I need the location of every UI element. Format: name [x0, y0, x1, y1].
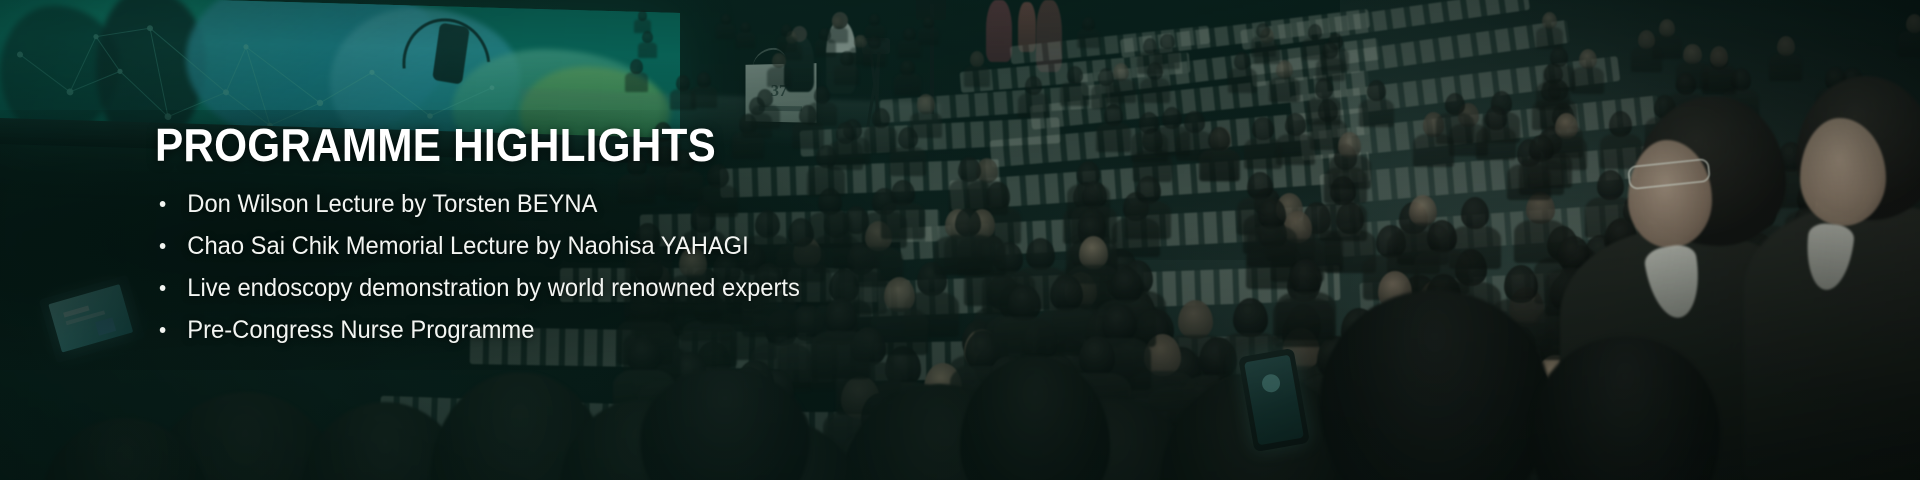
- audience-torso: [1251, 36, 1277, 57]
- audience-torso: [898, 40, 920, 58]
- laptop-ui-tile: [95, 317, 116, 335]
- audience-torso: [918, 28, 939, 45]
- audience-torso: [1269, 77, 1300, 102]
- audience-head: [1427, 220, 1457, 254]
- bullet-dot-icon: [160, 243, 166, 249]
- screen-figure-left: [0, 4, 120, 137]
- audience-torso: [1476, 127, 1516, 160]
- audience-torso: [1018, 93, 1049, 118]
- audience-torso: [1228, 68, 1258, 92]
- audience-head: [1445, 93, 1465, 116]
- audience-head: [1067, 66, 1083, 84]
- audience-head: [1555, 113, 1578, 138]
- audience-torso: [849, 47, 872, 66]
- audience-head: [1338, 132, 1361, 158]
- highlight-item-label: Live endoscopy demonstration by world re…: [187, 274, 800, 302]
- standing-attendee-1: [986, 0, 1012, 62]
- audience-torso: [716, 24, 734, 39]
- audience-torso: [736, 32, 756, 48]
- audience-torso: [1307, 97, 1341, 125]
- audience-torso: [1898, 31, 1920, 57]
- audience-torso: [828, 27, 848, 43]
- audience-torso: [1436, 113, 1474, 144]
- smartphone-screen-glow: [1261, 373, 1282, 394]
- highlight-item: Chao Sai Chik Memorial Lecture by Naohis…: [155, 225, 1219, 267]
- audience-torso: [625, 72, 649, 91]
- audience-torso: [1329, 155, 1371, 189]
- audience-head: [1409, 195, 1437, 226]
- page-title: PROGRAMME HIGHLIGHTS: [155, 122, 1185, 169]
- audience-torso: [1519, 159, 1563, 195]
- highlights-list: Don Wilson Lecture by Torsten BEYNAChao …: [155, 183, 1275, 351]
- audience-head: [1322, 42, 1338, 60]
- audience-torso: [1543, 65, 1575, 91]
- audience-head: [1529, 135, 1553, 162]
- audience-torso: [1276, 134, 1315, 165]
- audience-head: [1461, 197, 1490, 229]
- screen-endoscope-handle: [432, 22, 470, 84]
- bullet-dot-icon: [160, 327, 166, 333]
- audience-torso: [1359, 99, 1394, 127]
- audience-head: [1504, 265, 1538, 303]
- audience-head: [1367, 80, 1386, 101]
- bullet-dot-icon: [160, 201, 166, 207]
- audience-head: [1597, 170, 1624, 201]
- audience-torso: [1316, 58, 1345, 82]
- audience-torso: [1571, 67, 1604, 94]
- audience-torso: [865, 25, 885, 41]
- audience-head: [970, 51, 984, 67]
- banner-copy: PROGRAMME HIGHLIGHTS Don Wilson Lecture …: [155, 122, 1275, 351]
- audience-torso: [1631, 47, 1662, 72]
- audience-head: [917, 94, 934, 113]
- audience-torso: [964, 66, 990, 87]
- audience-torso: [894, 74, 921, 96]
- audience-torso: [1106, 79, 1136, 103]
- audience-torso: [1702, 64, 1736, 92]
- audience-torso: [767, 67, 791, 87]
- smartphone-screen: [1244, 355, 1304, 446]
- bullet-dot-icon: [160, 285, 166, 291]
- audience-torso: [1414, 250, 1469, 295]
- audience-head: [1609, 111, 1632, 137]
- audience-torso: [1536, 27, 1563, 49]
- highlight-item: Live endoscopy demonstration by world re…: [155, 267, 1219, 309]
- audience-torso: [777, 36, 797, 53]
- audience-torso: [1769, 54, 1802, 81]
- highlight-item: Pre-Congress Nurse Programme: [155, 309, 1219, 351]
- highlight-item-label: Pre-Congress Nurse Programme: [187, 316, 534, 344]
- audience-torso: [1276, 292, 1335, 340]
- highlight-item-label: Don Wilson Lecture by Torsten BEYNA: [187, 190, 597, 218]
- audience-head: [1113, 63, 1129, 81]
- audience-head: [1683, 44, 1701, 64]
- audience-torso: [1060, 82, 1089, 106]
- audience-head: [1485, 106, 1507, 130]
- audience-head: [1290, 259, 1322, 295]
- audience-torso: [638, 42, 658, 58]
- screen-endoscope-cable: [398, 15, 490, 69]
- audience-torso: [1077, 29, 1100, 48]
- audience-head: [1676, 73, 1696, 96]
- audience-head: [642, 31, 653, 43]
- highlight-item: Don Wilson Lecture by Torsten BEYNA: [155, 183, 1219, 225]
- audience-torso: [1140, 78, 1170, 102]
- laptop-screen: [48, 284, 133, 352]
- programme-highlights-banner: 37: [0, 0, 1920, 480]
- audience-head: [1285, 113, 1306, 137]
- audience-torso: [834, 65, 859, 85]
- audience-torso: [691, 86, 717, 107]
- highlight-item-label: Chao Sai Chik Memorial Lecture by Naohis…: [187, 232, 748, 260]
- audience-torso: [1319, 202, 1367, 241]
